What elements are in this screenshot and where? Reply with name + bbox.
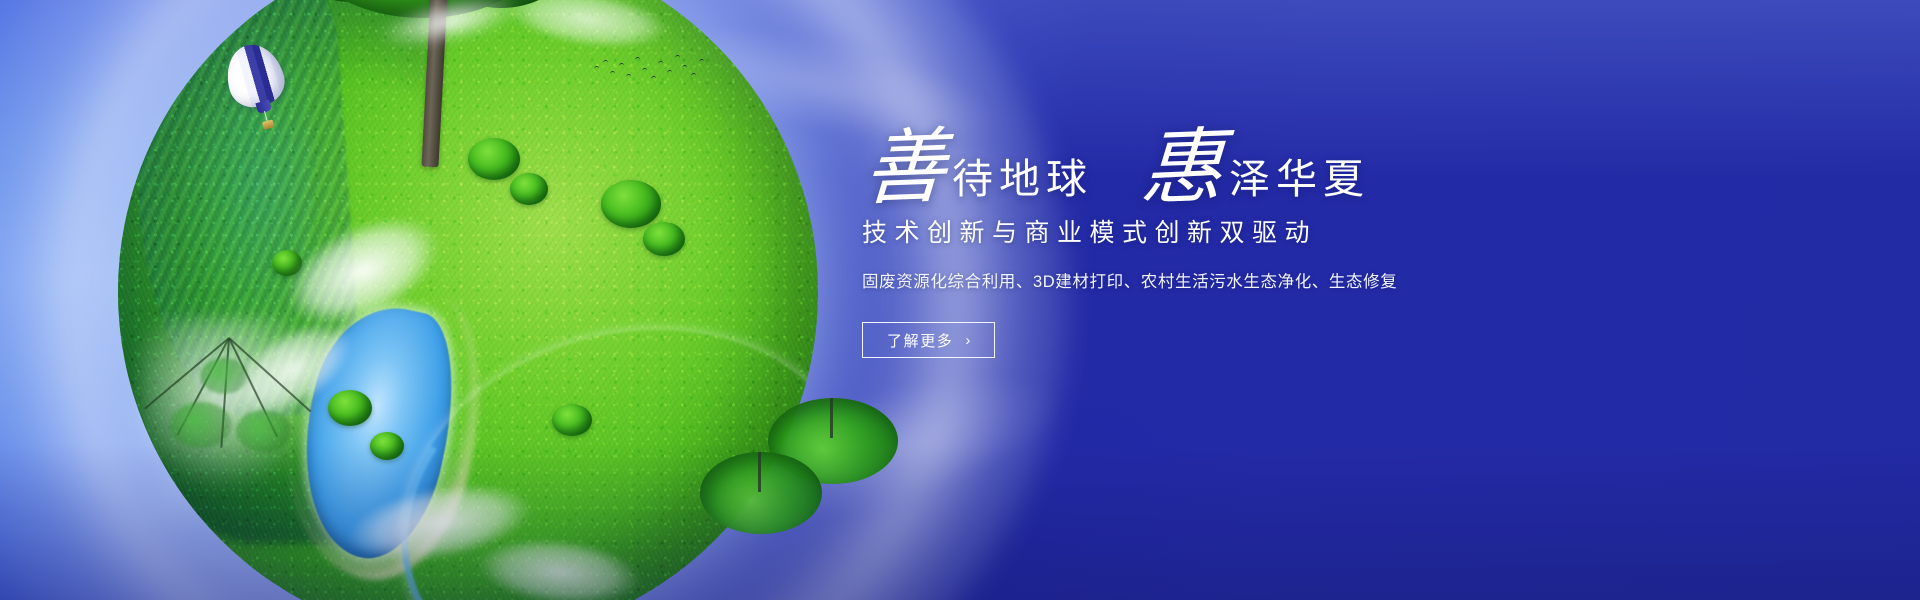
bird-icon [603, 60, 608, 64]
hero-subline: 固废资源化综合利用、3D建材打印、农村生活污水生态净化、生态修复 [862, 271, 1562, 294]
bird-icon [675, 55, 680, 59]
bird-icon [610, 71, 615, 75]
bird-flock-icon [592, 52, 712, 86]
bird-icon [699, 59, 704, 63]
chevron-right-icon: › [965, 332, 970, 349]
learn-more-button[interactable]: 了解更多 › [862, 322, 995, 358]
tree-canopy [170, 402, 232, 448]
headline-char-2: 惠 [1139, 133, 1225, 206]
bird-icon [682, 65, 687, 69]
headline-char-1: 善 [862, 133, 948, 206]
tree-canopy [236, 410, 292, 452]
learn-more-label: 了解更多 [887, 330, 953, 351]
bird-icon [635, 57, 640, 61]
hero-tagline: 技术创新与商业模式创新双驱动 [862, 218, 1562, 249]
tree-canopy [200, 358, 248, 394]
hero-copy: 善 待地球 惠 泽华夏 技术创新与商业模式创新双驱动 固废资源化综合利用、3D建… [862, 120, 1562, 358]
bird-icon [667, 70, 672, 74]
tree-trunk [830, 398, 833, 438]
page-title: 善 待地球 惠 泽华夏 [862, 120, 1562, 206]
tree-icon [700, 452, 822, 548]
bird-icon [619, 63, 624, 67]
tree-trunk [758, 452, 761, 492]
headline-phrase-1: 待地球 [944, 159, 1095, 206]
bird-icon [691, 73, 696, 77]
bird-icon [642, 68, 647, 72]
tree-canopy [700, 452, 822, 534]
headline-phrase-2: 泽华夏 [1221, 159, 1372, 206]
hero-banner: 善 待地球 惠 泽华夏 技术创新与商业模式创新双驱动 固废资源化综合利用、3D建… [0, 0, 1920, 600]
tree-icon [276, 0, 576, 162]
bird-icon [658, 61, 663, 65]
bird-icon [594, 66, 599, 70]
bird-icon [626, 74, 631, 78]
tree-icon [140, 318, 330, 498]
bird-icon [651, 76, 656, 80]
